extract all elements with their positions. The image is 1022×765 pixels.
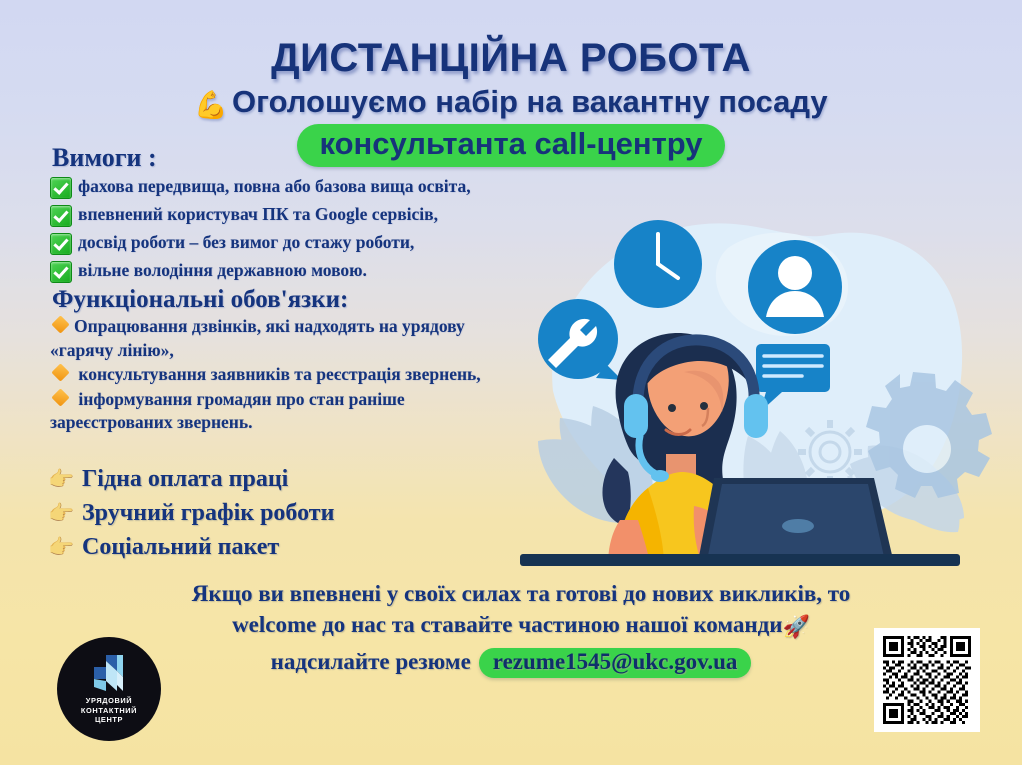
page-subtitle-text: Оголошуємо набір на вакантну посаду: [232, 84, 828, 119]
requirement-text: впевнений користувач ПК та Google сервіс…: [78, 203, 438, 226]
email-address[interactable]: rezume1545@ukc.gov.ua: [479, 648, 752, 678]
list-item: консультування заявників та реєстрація з…: [50, 363, 520, 387]
requirements-list: фахова передвища, повна або базова вища …: [50, 175, 520, 287]
cta-line-2: welcome до нас та ставайте частиною нашо…: [232, 612, 782, 637]
logo-text: УРЯДОВИЙ КОНТАКТНИЙ ЦЕНТР: [81, 696, 137, 725]
perk-text: Зручний графік роботи: [82, 500, 334, 527]
page-subtitle: 💪Оголошуємо набір на вакантну посаду: [0, 84, 1022, 121]
list-item: фахова передвища, повна або базова вища …: [50, 175, 520, 200]
duties-list: Опрацювання дзвінків, які надходять на у…: [50, 315, 520, 436]
qr-code-image: [883, 636, 971, 724]
list-item: впевнений користувач ПК та Google сервіс…: [50, 203, 520, 228]
logo-line-3: ЦЕНТР: [81, 715, 137, 725]
perk-text: Гідна оплата праці: [82, 466, 288, 493]
logo-line-1: УРЯДОВИЙ: [81, 696, 137, 706]
duties-heading: Функціональні обов'язки:: [52, 286, 348, 314]
list-item: Опрацювання дзвінків, які надходять на у…: [50, 315, 520, 362]
flexed-bicep-icon: 💪: [194, 90, 228, 120]
duty-text: Опрацювання дзвінків, які надходять на у…: [50, 316, 465, 360]
user-avatar-bubble: [748, 240, 842, 334]
call-to-action: Якщо ви впевнені у своїх силах та готові…: [60, 578, 982, 642]
requirements-heading: Вимоги :: [52, 143, 157, 173]
check-icon: [50, 261, 72, 283]
list-item: 👉 Зручний графік роботи: [48, 496, 334, 530]
pointing-hand-icon: 👉: [48, 501, 82, 526]
position-highlight-badge: консультанта call-центру: [297, 124, 724, 167]
logo-line-2: КОНТАКТНИЙ: [81, 706, 137, 716]
perks-list: 👉 Гідна оплата праці 👉 Зручний графік ро…: [48, 462, 334, 564]
check-icon: [50, 233, 72, 255]
pointing-hand-icon: 👉: [48, 535, 82, 560]
perk-text: Соціальний пакет: [82, 534, 279, 561]
duty-text: інформування громадян про стан раніше за…: [50, 389, 405, 433]
cta-line-2-wrap: welcome до нас та ставайте частиною нашо…: [60, 609, 982, 642]
clock-icon-bubble: [614, 220, 702, 308]
list-item: вільне володіння державною мовою.: [50, 259, 520, 284]
pointing-hand-icon: 👉: [48, 467, 82, 492]
rocket-icon: 🚀: [783, 614, 810, 639]
cta-line-1: Якщо ви впевнені у своїх силах та готові…: [60, 578, 982, 609]
logo-mark-icon: [86, 653, 132, 693]
diamond-bullet-icon: [51, 388, 69, 406]
requirement-text: досвід роботи – без вимог до стажу робот…: [78, 231, 414, 254]
diamond-bullet-icon: [51, 363, 69, 381]
list-item: досвід роботи – без вимог до стажу робот…: [50, 231, 520, 256]
page-title: ДИСТАНЦІЙНА РОБОТА: [0, 36, 1022, 81]
list-item: 👉 Гідна оплата праці: [48, 462, 334, 496]
organization-logo: УРЯДОВИЙ КОНТАКТНИЙ ЦЕНТР: [57, 637, 161, 741]
requirement-text: вільне володіння державною мовою.: [78, 259, 367, 282]
diamond-bullet-icon: [51, 315, 69, 333]
list-item: інформування громадян про стан раніше за…: [50, 388, 520, 435]
qr-code[interactable]: [874, 628, 980, 732]
check-icon: [50, 205, 72, 227]
requirement-text: фахова передвища, повна або базова вища …: [78, 175, 471, 198]
email-label: надсилайте резюме: [271, 649, 471, 674]
list-item: 👉 Соціальний пакет: [48, 530, 334, 564]
call-center-operator-illustration: [498, 196, 998, 566]
duty-text: консультування заявників та реєстрація з…: [74, 364, 481, 384]
job-vacancy-poster: ДИСТАНЦІЙНА РОБОТА 💪Оголошуємо набір на …: [0, 0, 1022, 765]
check-icon: [50, 177, 72, 199]
